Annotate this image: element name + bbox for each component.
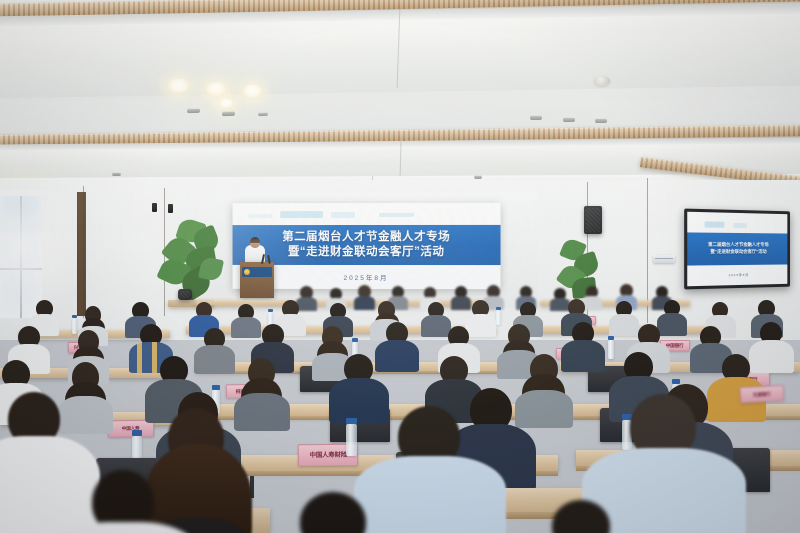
water-bottle [496,310,501,325]
attendee-torso [354,296,375,310]
screen-title-line-2: 暨“走进财金联动会客厅”活动 [288,245,444,260]
screen-accent-block [331,212,355,218]
screen-title-band: 第二届烟台人才节金融人才专场 暨“走进财金联动会客厅”活动 [233,225,501,265]
wall-speaker-right [584,206,602,234]
screen-top-band [233,203,501,226]
water-bottle [346,424,357,456]
attendee-torso [451,296,471,310]
bottle-cap [72,315,77,318]
ceiling [0,0,800,196]
side-monitor-title-line-2: 暨“走进财金联动会客厅”活动 [710,249,766,255]
screen-accent-block [248,214,272,218]
screen-date-text: 2025年8月 [343,272,388,282]
wall-panel-left-3 [84,186,128,318]
speaker-podium [240,262,274,298]
water-bottle [608,340,614,359]
attendee-torso [609,314,639,336]
attendee-torso [296,297,317,311]
bottle-cap [268,309,273,312]
attendee-torso [58,396,113,434]
attendee-torso [657,313,687,336]
name-card-label: 中国银行 [666,342,684,348]
smoke-detector [594,76,610,86]
downlight [205,82,227,97]
attendee-torso [231,317,261,338]
ceiling-vent [222,111,235,116]
ceiling-speaker [168,204,173,213]
bottle-cap [352,338,358,342]
attendee-torso [421,315,451,337]
name-card: 交通银行 [740,385,785,403]
attendee-torso [561,340,605,372]
attendee-torso [329,378,389,423]
attendee-torso [375,340,419,372]
attendee-torso [234,393,290,431]
water-bottle [72,318,77,334]
ceiling-vent [595,118,607,123]
side-monitor-title-band: 第二届烟台人才节金融人才专场 暨“走进财金联动会客厅”活动 [687,233,787,266]
screen-accent-block [733,223,747,228]
wall-panel-dark-left [77,192,86,316]
attendee-torso [550,298,570,311]
window-frame-horizontal [0,268,42,270]
ceiling-vent [258,112,268,116]
name-card-label: 交通银行 [753,390,771,397]
attendee-torso [465,314,496,337]
podium-emblem-icon [244,269,250,275]
bottle-cap [496,307,501,310]
downlight [242,84,263,99]
attendee-torso [749,340,794,373]
ceiling-vent [187,108,200,113]
presenter-head [250,237,260,248]
bottle-cap [212,385,220,390]
bottle-cap [132,430,142,436]
screen-accent-block [379,213,414,218]
attendee-torso [0,436,100,533]
screen-accent-block [280,212,323,219]
side-monitor-top-band [687,212,787,234]
screen-accent-block [704,221,725,227]
side-monitor: 第二届烟台人才节金融人才专场 暨“走进财金联动会客厅”活动 2025年8月 [684,209,790,290]
conference-room-photo: 第二届烟台人才节金融人才专场 暨“走进财金联动会客厅”活动 2025年8月 第二… [0,0,800,533]
side-monitor-date-text: 2025年8月 [729,273,750,277]
wall-sign-plate [653,255,675,263]
name-card-label: 中国人寿财险 [309,450,347,460]
bottle-cap [346,418,357,424]
side-monitor-bottom-band: 2025年8月 [687,264,787,286]
ceiling-vent [112,172,121,176]
attendee-torso [354,456,506,533]
window-frame-vertical [20,196,22,318]
attendee-torso [582,296,602,310]
attendee-torso [194,345,235,374]
side-monitor-title-line-1: 第二届烟台人才节金融人才专场 [708,242,769,248]
side-monitor-screen: 第二届烟台人才节金融人才专场 暨“走进财金联动会客厅”活动 2025年8月 [687,212,787,287]
downlight [218,98,234,109]
bottle-cap [672,379,680,384]
ceiling-speaker [152,203,157,212]
ceiling-vent [530,115,542,120]
ceiling-vent [474,175,482,179]
av-equipment [178,289,192,300]
attendee-torso [515,390,573,428]
ceiling-vent [563,117,575,122]
screen-title-line-1: 第二届烟台人才节金融人才专场 [282,230,450,245]
bottle-cap [608,336,614,340]
downlight [167,78,190,94]
